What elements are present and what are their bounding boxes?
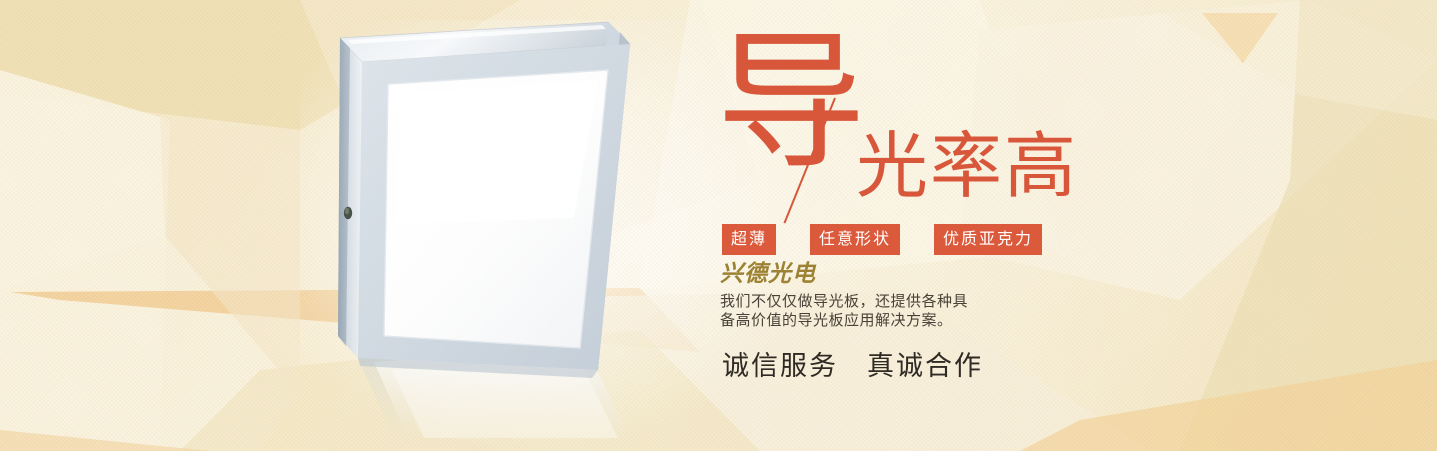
description-text: 我们不仅仅做导光板，还提供各种具 备高价值的导光板应用解决方案。 (720, 292, 1020, 330)
headline-secondary-text: 光率高 (856, 130, 1078, 202)
led-light-panel-image (330, 18, 750, 438)
promo-banner: 导 光率高 超薄 任意形状 优质亚克力 兴德光电 我们不仅仅做导光板，还提供各种… (0, 0, 1437, 451)
slogan-tagline: 诚信服务 真诚合作 (722, 353, 983, 380)
description-line-1: 我们不仅仅做导光板，还提供各种具 (720, 292, 1020, 311)
description-line-2: 备高价值的导光板应用解决方案。 (720, 311, 1020, 330)
feature-badge-premium-acrylic: 优质亚克力 (934, 224, 1042, 255)
banner-copy: 导 光率高 超薄 任意形状 优质亚克力 兴德光电 我们不仅仅做导光板，还提供各种… (716, 40, 1356, 218)
feature-badge-ultra-thin: 超薄 (722, 224, 776, 255)
panel-screw (344, 207, 352, 219)
headline-group: 导 光率高 (716, 40, 1356, 218)
feature-badge-list: 超薄 任意形状 优质亚克力 (722, 224, 1042, 255)
headline-primary-character: 导 (716, 28, 866, 178)
feature-badge-any-shape: 任意形状 (810, 224, 900, 255)
brand-name: 兴德光电 (720, 262, 816, 285)
